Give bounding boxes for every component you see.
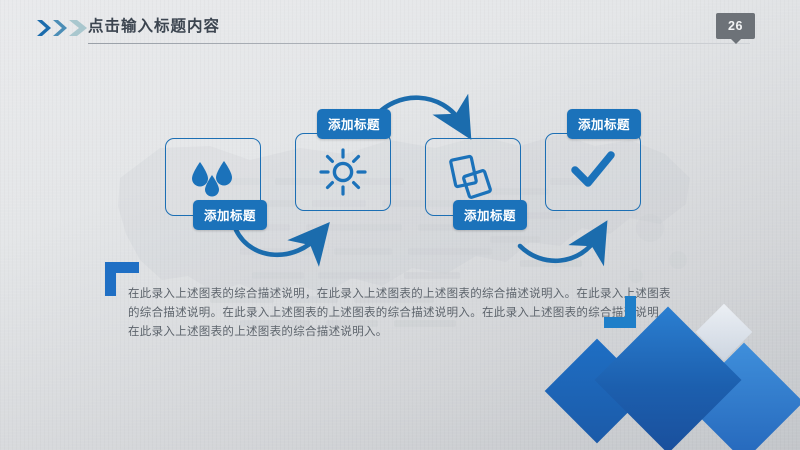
node-label[interactable]: 添加标题 xyxy=(453,200,527,230)
flow-diagram: 添加标题 xyxy=(0,0,800,300)
node-label[interactable]: 添加标题 xyxy=(193,200,267,230)
checkmark-icon xyxy=(545,133,641,211)
corner-bracket-icon xyxy=(604,296,636,328)
corner-decoration xyxy=(570,290,800,450)
sun-icon xyxy=(295,133,391,211)
node-label[interactable]: 添加标题 xyxy=(567,109,641,139)
slide-canvas: 点击输入标题内容 26 xyxy=(0,0,800,450)
node-label[interactable]: 添加标题 xyxy=(317,109,391,139)
